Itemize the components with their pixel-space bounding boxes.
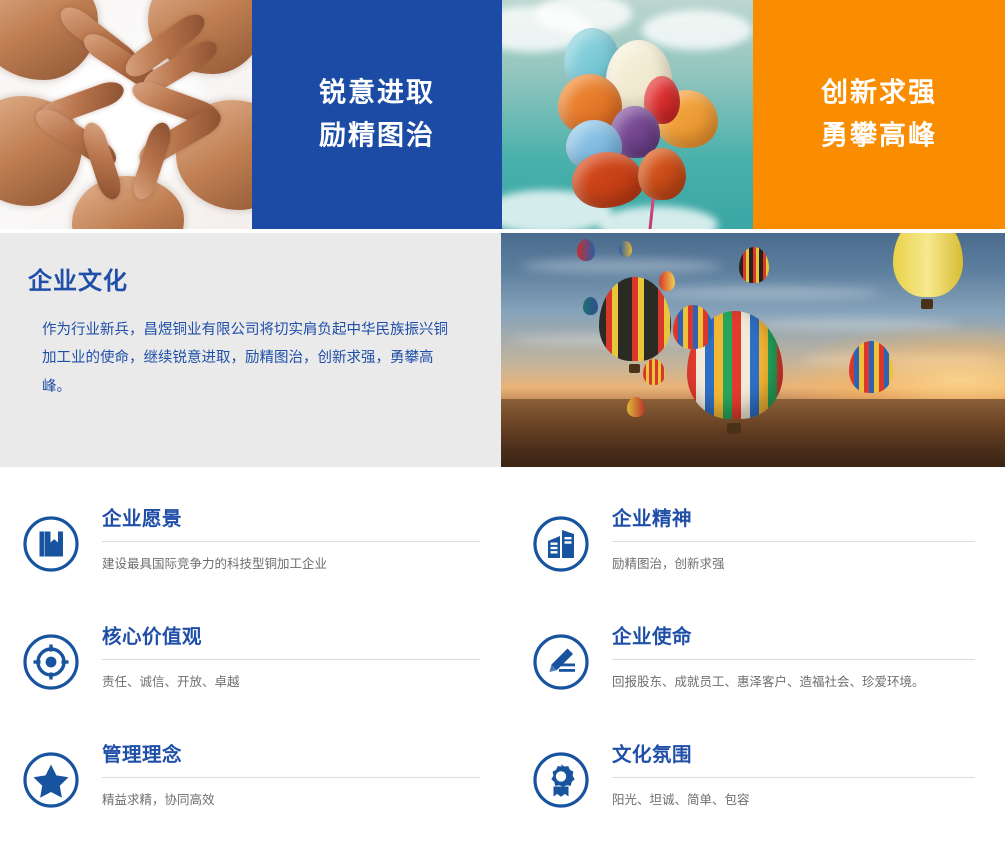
value-body: 企业使命 回报股东、成就员工、惠泽客户、造福社会、珍爱环境。: [612, 625, 1005, 692]
hab-yellow: [893, 233, 963, 297]
value-title: 企业愿景: [102, 507, 480, 542]
hab-small-2: [577, 239, 595, 261]
hab-small-6: [643, 359, 665, 385]
star-icon: [22, 751, 80, 809]
value-title: 企业使命: [612, 625, 975, 660]
hab-right-mid: [849, 341, 893, 393]
slogan-orange-line1: 创新求强: [821, 77, 937, 108]
value-desc: 精益求精，协同高效: [102, 778, 480, 810]
value-card-core-values[interactable]: 核心价值观 责任、诚信、开放、卓越: [0, 615, 510, 733]
culture-title: 企业文化: [28, 261, 471, 296]
culture-section: 企业文化 作为行业新兵，昌煜铜业有限公司将切实肩负起中华民族振兴铜加工业的使命，…: [0, 233, 1005, 467]
slogan-blue-panel: 锐意进取 励精图治: [252, 0, 502, 229]
book-icon: [22, 515, 80, 573]
values-grid: 企业愿景 建设最具国际竞争力的科技型铜加工企业 企业精神: [0, 497, 1005, 851]
value-title: 文化氛围: [612, 743, 975, 778]
page-root: 锐意进取 励精图治: [0, 0, 1005, 851]
buildings-icon: [532, 515, 590, 573]
value-title: 管理理念: [102, 743, 480, 778]
value-card-management[interactable]: 管理理念 精益求精，协同高效: [0, 733, 510, 851]
culture-body-text: 作为行业新兵，昌煜铜业有限公司将切实肩负起中华民族振兴铜加工业的使命，继续锐意进…: [28, 316, 471, 401]
value-body: 管理理念 精益求精，协同高效: [102, 743, 510, 810]
value-desc: 建设最具国际竞争力的科技型铜加工企业: [102, 542, 480, 574]
hot-air-balloons-photo: [501, 233, 1005, 467]
slogan-blue-text: 锐意进取 励精图治: [252, 71, 502, 158]
value-desc: 回报股东、成就员工、惠泽客户、造福社会、珍爱环境。: [612, 660, 975, 692]
medal-icon: [532, 751, 590, 809]
value-body: 企业愿景 建设最具国际竞争力的科技型铜加工企业: [102, 507, 510, 574]
value-desc: 阳光、坦诚、简单、包容: [612, 778, 975, 810]
slogan-blue-line2: 励精图治: [252, 115, 502, 159]
value-title: 企业精神: [612, 507, 975, 542]
hands-star-artwork: [0, 0, 252, 229]
value-body: 核心价值观 责任、诚信、开放、卓越: [102, 625, 510, 692]
culture-text-panel: 企业文化 作为行业新兵，昌煜铜业有限公司将切实肩负起中华民族振兴铜加工业的使命，…: [0, 233, 501, 467]
slogan-orange-line2: 勇攀高峰: [753, 115, 1005, 159]
value-desc: 责任、诚信、开放、卓越: [102, 660, 480, 692]
value-card-mission[interactable]: 企业使命 回报股东、成就员工、惠泽客户、造福社会、珍爱环境。: [510, 615, 1005, 733]
hab-small-5: [583, 297, 598, 315]
slogan-orange-panel: 创新求强 勇攀高峰: [753, 0, 1005, 229]
hands-star-photo: [0, 0, 252, 229]
value-body: 企业精神 励精图治，创新求强: [612, 507, 1005, 574]
slogan-blue-line1: 锐意进取: [319, 77, 435, 108]
pencil-icon: [532, 633, 590, 691]
hab-small-1: [739, 247, 769, 283]
hab-small-8: [673, 305, 713, 349]
slogan-orange-text: 创新求强 勇攀高峰: [753, 71, 1005, 158]
value-desc: 励精图治，创新求强: [612, 542, 975, 574]
value-card-vision[interactable]: 企业愿景 建设最具国际竞争力的科技型铜加工企业: [0, 497, 510, 615]
value-card-atmosphere[interactable]: 文化氛围 阳光、坦诚、简单、包容: [510, 733, 1005, 851]
balloons-artwork: [502, 0, 753, 229]
hab-small-3: [619, 241, 632, 257]
top-banner: 锐意进取 励精图治: [0, 0, 1005, 229]
hab-small-7: [627, 397, 645, 417]
value-body: 文化氛围 阳光、坦诚、简单、包容: [612, 743, 1005, 810]
hab-small-4: [659, 271, 675, 291]
value-card-spirit[interactable]: 企业精神 励精图治，创新求强: [510, 497, 1005, 615]
value-title: 核心价值观: [102, 625, 480, 660]
target-icon: [22, 633, 80, 691]
balloons-photo: [502, 0, 753, 229]
